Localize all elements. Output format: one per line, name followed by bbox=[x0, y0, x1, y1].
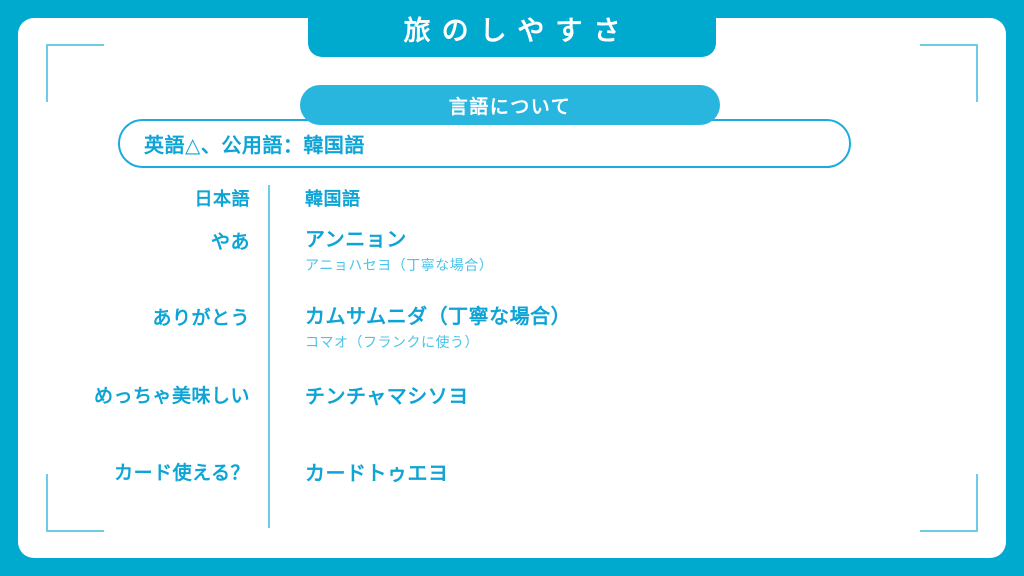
table-row-target-0: アンニョン アニョハセヨ（丁寧な場合） bbox=[305, 223, 493, 275]
column-header-source: 日本語 bbox=[195, 185, 251, 211]
section-label-pill: 言語について bbox=[300, 85, 720, 125]
table-row-target-3: カードトゥエヨ bbox=[305, 457, 449, 486]
slide-root: 旅のしやすさ 言語について 英語△、公用語：韓国語 日本語 やあ ありがとう め… bbox=[0, 0, 1024, 576]
column-header-target: 韓国語 bbox=[305, 185, 361, 211]
section-label-text: 言語について bbox=[449, 92, 571, 119]
table-row-target-1: カムサムニダ（丁寧な場合） コマオ（フランクに使う） bbox=[305, 300, 571, 352]
table-row-source-1: ありがとう bbox=[152, 303, 250, 330]
column-divider bbox=[268, 185, 270, 528]
table-row-target-term-2: チンチャマシソヨ bbox=[305, 380, 469, 409]
phrase-table: 日本語 やあ ありがとう めっちゃ美味しい カード使える？ 韓国語 アンニョン … bbox=[0, 185, 1024, 530]
page-title: 旅のしやすさ bbox=[393, 9, 632, 48]
table-row-target-2: チンチャマシソヨ bbox=[305, 380, 469, 409]
table-row-target-note-1: コマオ（フランクに使う） bbox=[305, 332, 571, 352]
table-row-source-3: カード使える？ bbox=[114, 458, 250, 485]
corner-bracket-top-right bbox=[920, 44, 978, 102]
table-row-target-note-0: アニョハセヨ（丁寧な場合） bbox=[305, 255, 493, 275]
summary-box: 英語△、公用語：韓国語 bbox=[118, 119, 851, 168]
summary-text: 英語△、公用語：韓国語 bbox=[120, 129, 365, 158]
table-row-target-term-1: カムサムニダ（丁寧な場合） bbox=[305, 300, 571, 329]
table-row-target-term-0: アンニョン bbox=[305, 223, 493, 252]
title-banner: 旅のしやすさ bbox=[308, 0, 716, 57]
corner-bracket-top-left bbox=[46, 44, 104, 102]
table-row-source-2: めっちゃ美味しい bbox=[94, 381, 250, 408]
table-row-target-term-3: カードトゥエヨ bbox=[305, 457, 449, 486]
table-row-source-0: やあ bbox=[211, 227, 250, 254]
